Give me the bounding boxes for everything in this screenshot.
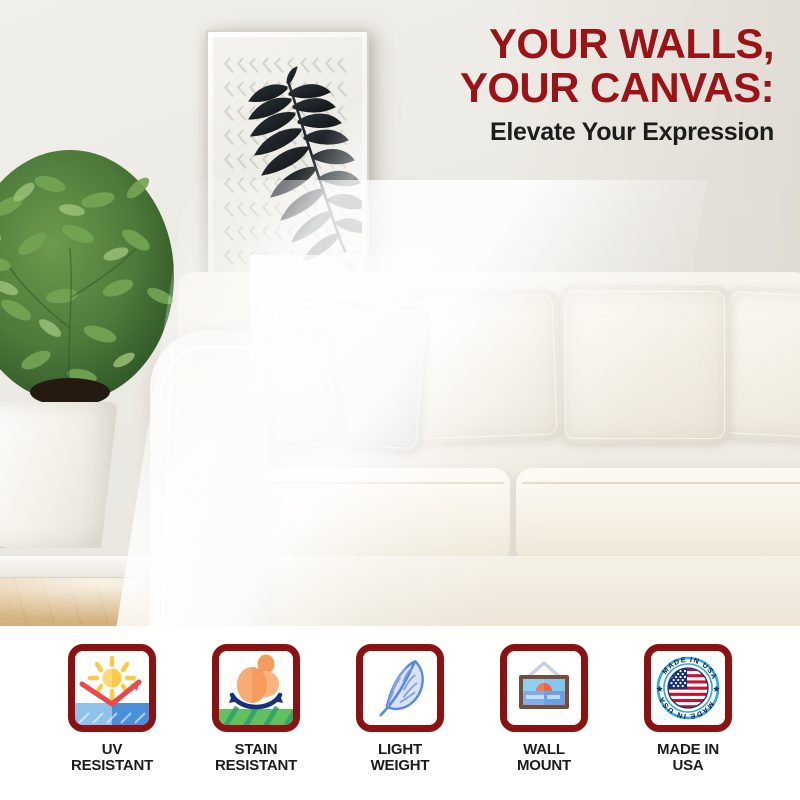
feature-label-line1: WALL [484, 742, 604, 758]
made-in-usa-seal-icon: MADE IN USA MADE IN USA [644, 644, 732, 732]
stain-repel-icon [212, 644, 300, 732]
potted-plant [0, 148, 194, 548]
feature-label-line1: STAIN [196, 742, 316, 758]
feature-label-line1: LIGHT [340, 742, 460, 758]
feature-label-line2: WEIGHT [340, 758, 460, 774]
sofa-base [180, 556, 800, 626]
sofa [150, 272, 800, 626]
product-marketing-poster: YOUR WALLS, YOUR CANVAS: Elevate Your Ex… [0, 0, 800, 800]
headline-subtitle: Elevate Your Expression [354, 118, 774, 147]
plant-pot [0, 402, 118, 548]
feature-light-weight[interactable]: LIGHT WEIGHT [340, 644, 460, 773]
print-mat [213, 37, 362, 281]
pillow [560, 286, 730, 444]
framed-picture-icon [500, 644, 588, 732]
frame-corner-mark [346, 261, 355, 270]
feature-stain-resistant[interactable]: STAIN RESISTANT [196, 644, 316, 773]
feather-icon [356, 644, 444, 732]
feature-badge-strip: UV RESISTANT [0, 626, 800, 800]
palm-leaf-icon [213, 37, 362, 281]
headline-line-1: YOUR WALLS, [354, 22, 774, 66]
feature-made-in-usa[interactable]: MADE IN USA MADE IN USA MADE IN USA [628, 644, 748, 773]
feature-label-line2: RESISTANT [52, 758, 172, 774]
feature-label-line2: MOUNT [484, 758, 604, 774]
feature-wall-mount[interactable]: WALL MOUNT [484, 644, 604, 773]
plant-foliage [0, 148, 189, 416]
feature-uv-resistant[interactable]: UV RESISTANT [52, 644, 172, 773]
feature-label-line1: UV [52, 742, 172, 758]
headline-line-2: YOUR CANVAS: [354, 66, 774, 110]
headline-block: YOUR WALLS, YOUR CANVAS: Elevate Your Ex… [354, 22, 774, 147]
feature-label-line2: RESISTANT [196, 758, 316, 774]
seat-cushion [516, 468, 800, 564]
framed-palm-leaf-print [206, 30, 369, 288]
feature-label-line1: MADE IN [628, 742, 748, 758]
sun-reflect-icon [68, 644, 156, 732]
pillow [718, 286, 800, 446]
feature-label-line2: USA [628, 758, 748, 774]
